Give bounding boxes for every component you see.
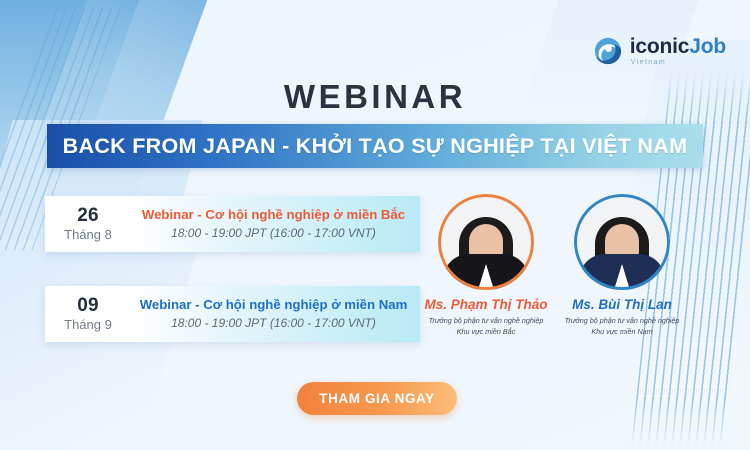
speaker-name: Ms. Bùi Thị Lan bbox=[560, 297, 684, 312]
session-details: Webinar - Cơ hội nghề nghiệp ở miền Nam … bbox=[131, 286, 420, 342]
speaker-role-line-2: Khu vực miền Nam bbox=[560, 327, 684, 338]
session-date: 26 Tháng 8 bbox=[45, 196, 131, 252]
portrait-suit bbox=[443, 254, 529, 290]
speaker-role: Trưởng bộ phận tư vấn nghề nghiệp Khu vự… bbox=[560, 316, 684, 338]
speaker-card: Ms. Bùi Thị Lan Trưởng bộ phận tư vấn ng… bbox=[560, 194, 684, 338]
join-now-button[interactable]: THAM GIA NGAY bbox=[297, 382, 457, 415]
session-time: 18:00 - 19:00 JPT (16:00 - 17:00 VNT) bbox=[171, 316, 376, 331]
speaker-portrait bbox=[574, 194, 670, 290]
portrait-background bbox=[574, 194, 670, 290]
decor-bottom-left-wash bbox=[0, 250, 197, 450]
brand-wordmark: iconicJob bbox=[630, 36, 726, 57]
page-title-bar: BACK FROM JAPAN - KHỞI TẠO SỰ NGHIỆP TẠI… bbox=[47, 124, 703, 168]
session-name: Webinar - Cơ hội nghề nghiệp ở miền Bắc bbox=[142, 207, 405, 224]
speaker-role-line-1: Trưởng bộ phận tư vấn nghề nghiệp bbox=[424, 316, 548, 327]
brand-logo[interactable]: iconicJob Vietnam bbox=[593, 36, 726, 66]
session-card[interactable]: 09 Tháng 9 Webinar - Cơ hội nghề nghiệp … bbox=[45, 286, 420, 342]
page-title: BACK FROM JAPAN - KHỞI TẠO SỰ NGHIỆP TẠI… bbox=[63, 134, 688, 159]
speaker-avatar bbox=[438, 194, 534, 290]
brand-tagline: Vietnam bbox=[630, 59, 726, 66]
brand-logo-text: iconicJob Vietnam bbox=[630, 36, 726, 66]
session-day: 09 bbox=[77, 296, 99, 317]
speaker-avatar bbox=[574, 194, 670, 290]
iconic-globe-icon bbox=[593, 36, 623, 66]
speaker-name: Ms. Phạm Thị Thảo bbox=[424, 297, 548, 312]
portrait-suit bbox=[579, 254, 665, 290]
decor-left-pale-panel bbox=[0, 120, 202, 450]
session-time: 18:00 - 19:00 JPT (16:00 - 17:00 VNT) bbox=[171, 226, 376, 241]
session-card[interactable]: 26 Tháng 8 Webinar - Cơ hội nghề nghiệp … bbox=[45, 196, 420, 252]
session-date: 09 Tháng 9 bbox=[45, 286, 131, 342]
portrait-hair bbox=[459, 217, 513, 283]
portrait-hair bbox=[595, 217, 649, 283]
portrait-shirt bbox=[478, 264, 494, 290]
speaker-portrait bbox=[438, 194, 534, 290]
portrait-face bbox=[605, 224, 639, 266]
session-day: 26 bbox=[77, 206, 99, 227]
session-month: Tháng 9 bbox=[64, 318, 112, 332]
brand-name-secondary: Job bbox=[689, 35, 726, 58]
speaker-list: Ms. Phạm Thị Thảo Trưởng bộ phận tư vấn … bbox=[424, 194, 684, 338]
portrait-face bbox=[469, 224, 503, 266]
session-details: Webinar - Cơ hội nghề nghiệp ở miền Bắc … bbox=[131, 196, 420, 252]
speaker-role-line-1: Trưởng bộ phận tư vấn nghề nghiệp bbox=[560, 316, 684, 327]
speaker-role-line-2: Khu vực miền Bắc bbox=[424, 327, 548, 338]
session-month: Tháng 8 bbox=[64, 228, 112, 242]
brand-name-primary: iconic bbox=[630, 35, 689, 58]
speaker-card: Ms. Phạm Thị Thảo Trưởng bộ phận tư vấn … bbox=[424, 194, 548, 338]
page-eyebrow: WEBINAR bbox=[0, 78, 750, 116]
portrait-background bbox=[438, 194, 534, 290]
webinar-banner: iconicJob Vietnam WEBINAR BACK FROM JAPA… bbox=[0, 0, 750, 450]
portrait-shirt bbox=[614, 264, 630, 290]
session-name: Webinar - Cơ hội nghề nghiệp ở miền Nam bbox=[140, 297, 408, 314]
speaker-role: Trưởng bộ phận tư vấn nghề nghiệp Khu vự… bbox=[424, 316, 548, 338]
